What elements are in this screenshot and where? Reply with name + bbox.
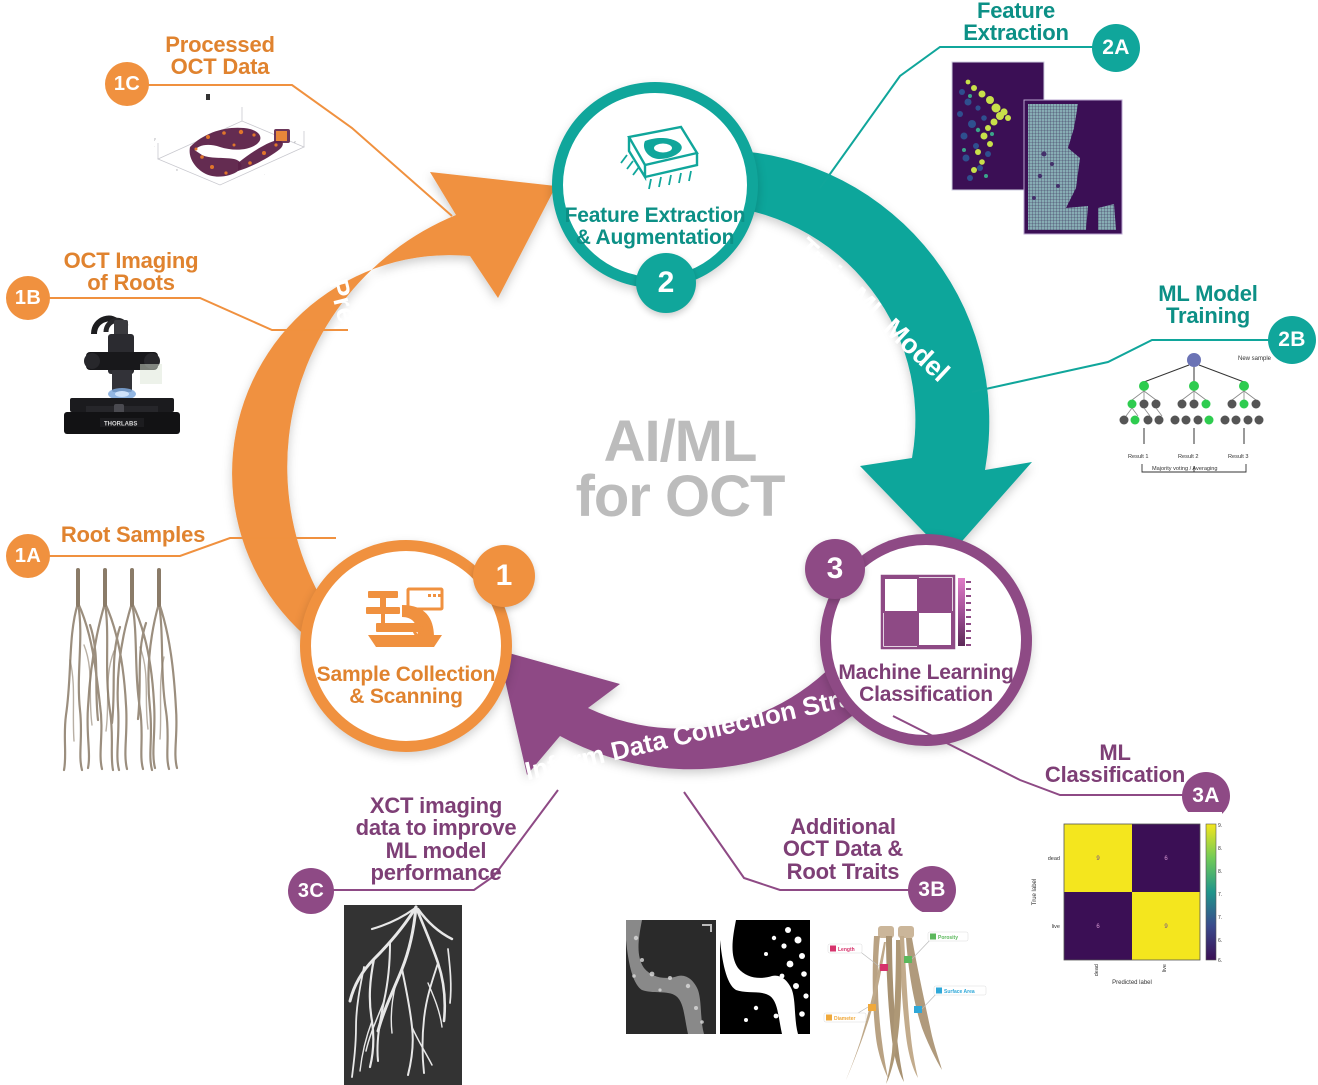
svg-text:live: live (1052, 924, 1060, 930)
svg-text:Diameter: Diameter (834, 1016, 855, 1022)
badge-3B[interactable]: 3B (908, 866, 956, 914)
svg-text:Predicted label: Predicted label (1112, 980, 1152, 986)
confusion-matrix-icon (880, 574, 972, 654)
microscope-icon (362, 585, 450, 655)
node-number-2: 2 (636, 253, 696, 313)
oct-microscope-photo: THORLABS (56, 312, 181, 440)
svg-text:Result 3: Result 3 (1228, 454, 1249, 460)
callout-label-2A: Feature Extraction (940, 0, 1092, 45)
center-title-line2: for OCT (520, 469, 840, 524)
callout-1B-line2: of Roots (46, 272, 216, 294)
node-label-1-line1: Sample Collection (317, 664, 496, 686)
svg-text:x: x (176, 168, 178, 172)
svg-text:live: live (1162, 964, 1168, 972)
callout-label-1B: OCT Imaging of Roots (46, 250, 216, 295)
callout-2A-line2: Extraction (940, 22, 1092, 44)
node-label-3-line1: Machine Learning (838, 662, 1013, 684)
callout-3B-line3: Root Traits (780, 861, 906, 883)
node-number-1: 1 (473, 545, 535, 607)
callout-3C-line4: performance (336, 862, 536, 884)
callout-3C-line3: ML model (336, 840, 536, 862)
svg-text:Length: Length (838, 947, 855, 953)
diagram-canvas: Preprocessing Train ML Model Inform Data… (0, 0, 1318, 1085)
callout-label-3B: Additional OCT Data & Root Traits (780, 816, 906, 883)
center-title-line1: AI/ML (520, 414, 840, 469)
node-sample-collection[interactable]: Sample Collection & Scanning 1 (300, 540, 512, 752)
svg-text:z: z (294, 140, 296, 144)
callout-label-3A: ML Classification (1040, 742, 1190, 787)
node-feature-extraction[interactable]: Feature Extraction & Augmentation 2 (552, 82, 758, 288)
svg-text:9.0: 9.0 (1218, 823, 1222, 829)
node-ml-classification[interactable]: Machine Learning Classification 3 (820, 534, 1032, 746)
node-label-3-line2: Classification (838, 684, 1013, 706)
callout-label-1C: Processed OCT Data (146, 34, 294, 79)
ml-training-forest-diagram: New sample Result 1 Result 2 (1118, 348, 1314, 484)
svg-text:8.0: 8.0 (1218, 869, 1222, 875)
svg-text:Majority voting / Averaging: Majority voting / Averaging (1152, 466, 1218, 472)
callout-3A-line1: ML (1040, 742, 1190, 764)
page-title: AI/ML for OCT (520, 414, 840, 524)
svg-text:True label: True label (1032, 879, 1038, 905)
callout-2B-line2: Training (1140, 305, 1276, 327)
node-label-2: Feature Extraction & Augmentation (565, 205, 746, 249)
callout-1A-line1: Root Samples (48, 524, 218, 546)
node-label-2-line1: Feature Extraction (565, 205, 746, 227)
confusion-matrix-chart: 9 6 6 9 dead live dead live Predicted la… (1022, 812, 1222, 987)
svg-text:Result 1: Result 1 (1128, 454, 1149, 460)
callout-2B-line1: ML Model (1140, 283, 1276, 305)
svg-text:7.0: 7.0 (1218, 915, 1222, 921)
svg-text:dead: dead (1094, 964, 1100, 976)
callout-3B-line1: Additional (780, 816, 906, 838)
node-label-2-line2: & Augmentation (565, 227, 746, 249)
svg-text:.: . (154, 144, 155, 148)
badge-1B[interactable]: 1B (6, 276, 50, 320)
callout-label-1A: Root Samples (48, 524, 218, 546)
oct-grayscale-pair (626, 920, 810, 1034)
callout-3C-line2: data to improve (336, 817, 536, 839)
callout-1B-line1: OCT Imaging (46, 250, 216, 272)
node-label-1: Sample Collection & Scanning (317, 664, 496, 708)
callout-3B-line2: OCT Data & (780, 838, 906, 860)
svg-text:.: . (264, 172, 265, 176)
node-label-1-line2: & Scanning (317, 686, 496, 708)
svg-text:dead: dead (1048, 856, 1060, 862)
node-label-3: Machine Learning Classification (838, 662, 1013, 706)
callout-label-3C: XCT imaging data to improve ML model per… (336, 795, 536, 885)
svg-text:7.5: 7.5 (1218, 892, 1222, 898)
callout-2A-line1: Feature (940, 0, 1092, 22)
svg-text:Surface Area: Surface Area (944, 989, 975, 995)
xct-root-image (344, 905, 462, 1085)
callout-1C-line2: OCT Data (146, 56, 294, 78)
feature-extraction-viridis-images (948, 58, 1138, 238)
callout-label-2B: ML Model Training (1140, 283, 1276, 328)
callout-3A-line2: Classification (1040, 764, 1190, 786)
svg-text:Result 2: Result 2 (1178, 454, 1199, 460)
callout-3C-line1: XCT imaging (336, 795, 536, 817)
node-number-3: 3 (805, 539, 865, 599)
root-samples-photo (60, 565, 185, 775)
svg-text:Porosity: Porosity (938, 935, 958, 941)
root-traits-diagram: Length Porosity Surface Area Diameter (822, 912, 992, 1084)
svg-text:6.0: 6.0 (1218, 958, 1222, 964)
svg-text:6.5: 6.5 (1218, 938, 1222, 944)
volume-slab-icon (607, 121, 703, 199)
processed-oct-3d-plot: y. x.z (146, 85, 316, 205)
badge-1C[interactable]: 1C (105, 62, 149, 106)
badge-1A[interactable]: 1A (6, 534, 50, 578)
svg-text:New sample: New sample (1238, 356, 1272, 362)
svg-text:y: y (154, 137, 156, 141)
badge-3C[interactable]: 3C (288, 868, 334, 914)
svg-text:THORLABS: THORLABS (104, 422, 137, 428)
svg-text:8.5: 8.5 (1218, 846, 1222, 852)
callout-1C-line1: Processed (146, 34, 294, 56)
